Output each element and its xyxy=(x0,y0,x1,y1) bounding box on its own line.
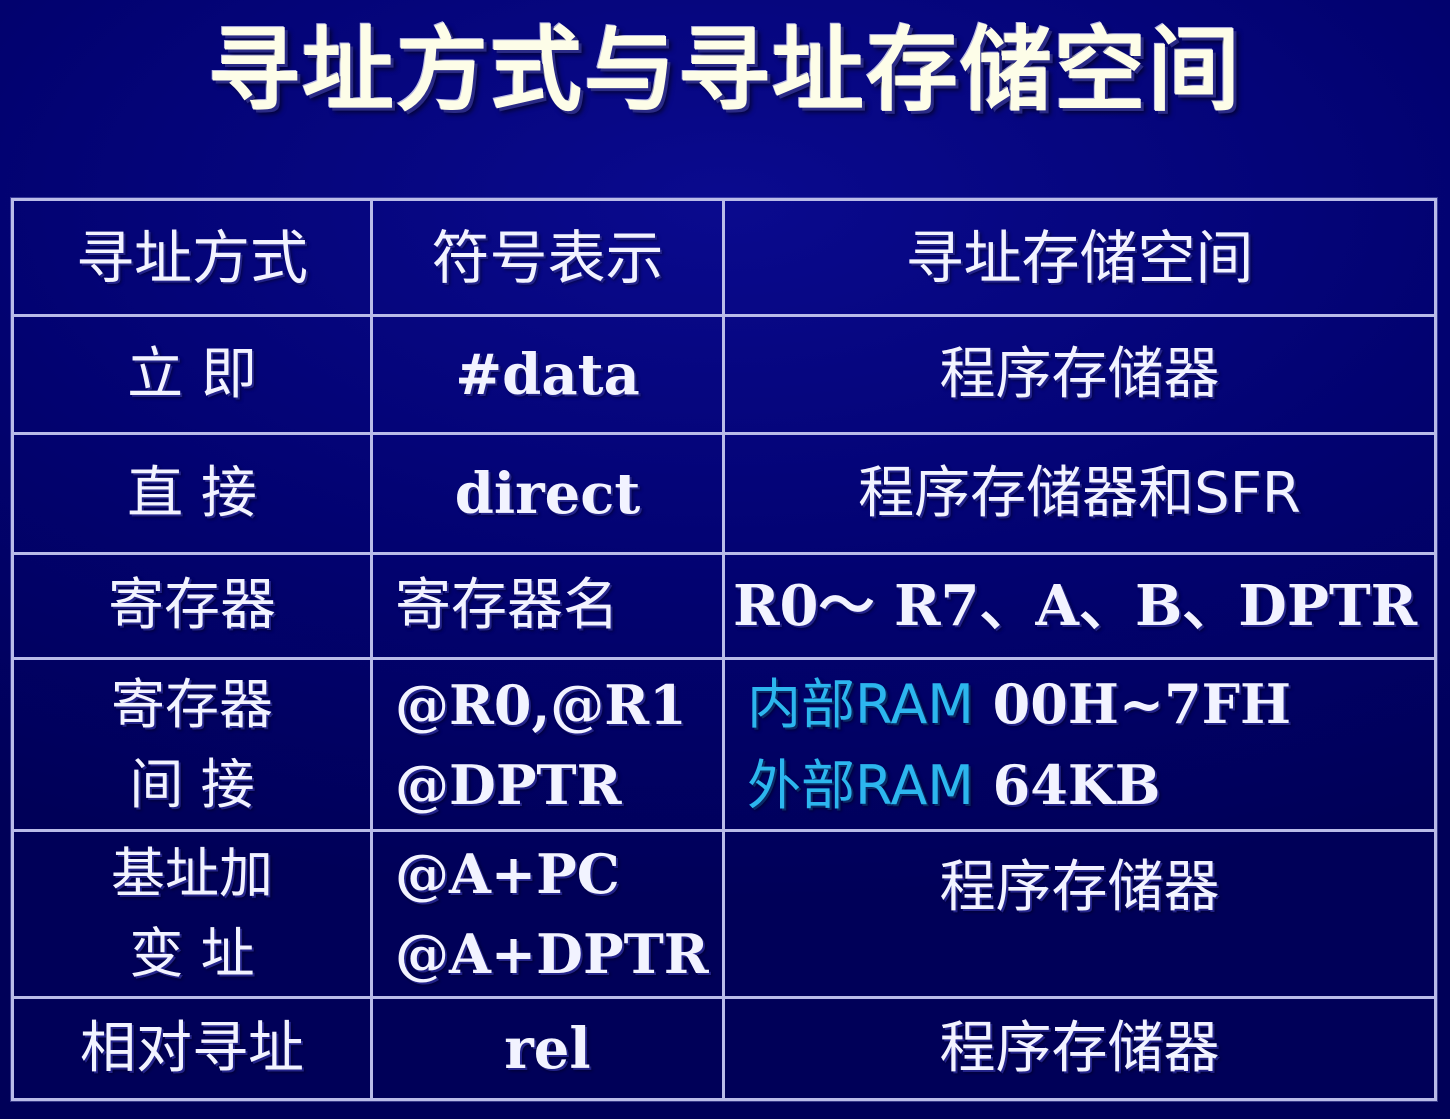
mode-label-line2: 间 接 xyxy=(14,745,370,825)
space-line2: 外部RAM 64KB xyxy=(747,745,1434,826)
symbol-label-line2: @DPTR xyxy=(395,745,722,825)
symbol-label-line1: @R0,@R1 xyxy=(395,665,722,745)
cell-mode-direct: 直 接 xyxy=(14,435,373,552)
space-line1: 内部RAM 00H~7FH xyxy=(747,664,1434,745)
cell-space-register-indirect: 内部RAM 00H~7FH 外部RAM 64KB xyxy=(725,660,1434,829)
mode-label: 相对寻址 xyxy=(14,1019,370,1079)
header-label-mode: 寻址方式 xyxy=(14,227,370,289)
cell-symbol-relative: rel xyxy=(373,999,725,1098)
space-label-external-size: 64KB xyxy=(974,753,1161,817)
mode-label: 立 即 xyxy=(14,345,370,405)
cell-space-register: R0～ R7、A、B、DPTR xyxy=(725,555,1434,657)
table-row: 基址加 变 址 @A+PC @A+DPTR 程序存储器 xyxy=(14,832,1434,999)
mode-label-line2: 变 址 xyxy=(14,914,370,994)
cell-space-direct: 程序存储器和SFR xyxy=(725,435,1434,552)
cell-symbol-register: 寄存器名 xyxy=(373,555,725,657)
symbol-label: #data xyxy=(373,345,722,405)
space-label-internal-range: 00H~7FH xyxy=(974,672,1291,736)
header-label-symbol: 符号表示 xyxy=(373,227,722,289)
addressing-modes-table: 寻址方式 符号表示 寻址存储空间 立 即 xyxy=(11,198,1437,1101)
cell-symbol-direct: direct xyxy=(373,435,725,552)
mode-label-line1: 寄存器 xyxy=(14,665,370,745)
slide-canvas: 寻址方式与寻址存储空间 寻址方式 符号表示 寻址存储空间 xyxy=(0,0,1450,1119)
cell-mode-relative: 相对寻址 xyxy=(14,999,373,1098)
symbol-label: rel xyxy=(373,1019,722,1079)
space-label: 程序存储器 xyxy=(725,1019,1434,1079)
space-label: 程序存储器 xyxy=(725,345,1434,405)
cell-mode-immediate: 立 即 xyxy=(14,317,373,432)
cell-space-relative: 程序存储器 xyxy=(725,999,1434,1098)
symbol-label: 寄存器名 xyxy=(395,576,619,636)
table-row: 直 接 direct 程序存储器和SFR xyxy=(14,435,1434,555)
space-label: 程序存储器 xyxy=(725,858,1434,918)
cell-space-immediate: 程序存储器 xyxy=(725,317,1434,432)
space-label: 程序存储器和SFR xyxy=(725,464,1434,524)
cell-space-base-index: 程序存储器 xyxy=(725,832,1434,996)
space-label: R0～ R7、A、B、DPTR xyxy=(733,576,1417,636)
mode-label: 寄存器 xyxy=(14,576,370,636)
mode-label-line1: 基址加 xyxy=(14,834,370,914)
cell-symbol-register-indirect: @R0,@R1 @DPTR xyxy=(373,660,725,829)
cell-symbol-immediate: #data xyxy=(373,317,725,432)
table-row: 立 即 #data 程序存储器 xyxy=(14,317,1434,435)
header-cell-mode: 寻址方式 xyxy=(14,201,373,314)
symbol-label-line1: @A+PC xyxy=(395,834,722,914)
cell-symbol-base-index: @A+PC @A+DPTR xyxy=(373,832,725,996)
page-title: 寻址方式与寻址存储空间 xyxy=(0,14,1450,126)
cell-mode-base-index: 基址加 变 址 xyxy=(14,832,373,996)
header-cell-space: 寻址存储空间 xyxy=(725,201,1434,314)
header-label-space: 寻址存储空间 xyxy=(725,227,1434,289)
cell-mode-register-indirect: 寄存器 间 接 xyxy=(14,660,373,829)
cell-mode-register: 寄存器 xyxy=(14,555,373,657)
mode-label: 直 接 xyxy=(14,464,370,524)
table-row: 相对寻址 rel 程序存储器 xyxy=(14,999,1434,1098)
symbol-label-line2: @A+DPTR xyxy=(395,914,722,994)
symbol-label: direct xyxy=(373,464,722,524)
table-row: 寄存器 寄存器名 R0～ R7、A、B、DPTR xyxy=(14,555,1434,660)
header-cell-symbol: 符号表示 xyxy=(373,201,725,314)
table-row: 寄存器 间 接 @R0,@R1 @DPTR 内部RAM 00H~7FH 外部RA… xyxy=(14,660,1434,832)
space-label-internal-ram: 内部RAM xyxy=(747,673,974,736)
table-header-row: 寻址方式 符号表示 寻址存储空间 xyxy=(14,201,1434,317)
space-label-external-ram: 外部RAM xyxy=(747,754,974,817)
